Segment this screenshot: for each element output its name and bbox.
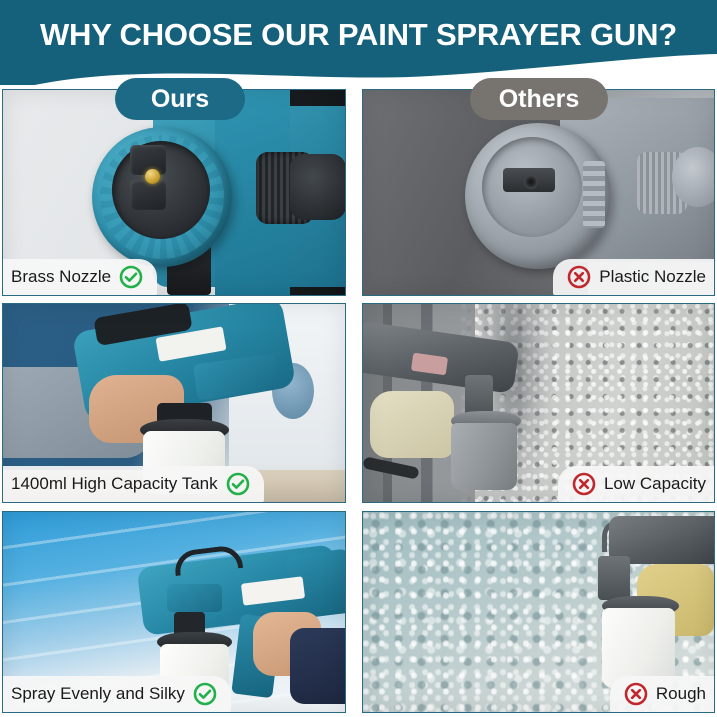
check-circle-icon <box>119 265 143 289</box>
comparison-row: Spray Evenly and Silky <box>0 511 717 717</box>
check-circle-icon <box>193 682 217 706</box>
x-circle-icon <box>567 265 591 289</box>
caption-text: Low Capacity <box>604 474 706 494</box>
caption-others: Low Capacity <box>558 466 715 502</box>
caption-ours: Spray Evenly and Silky <box>2 676 231 712</box>
x-circle-icon <box>572 472 596 496</box>
caption-text: Plastic Nozzle <box>599 267 706 287</box>
panel-ours-nozzle: Brass Nozzle <box>2 89 346 296</box>
caption-others: Plastic Nozzle <box>553 259 715 295</box>
panel-ours-finish: Spray Evenly and Silky <box>2 511 346 713</box>
panel-others-capacity: Low Capacity <box>362 303 715 503</box>
caption-text: Brass Nozzle <box>11 267 111 287</box>
panel-ours-tank: 1400ml High Capacity Tank <box>2 303 346 503</box>
panel-others-finish: Rough <box>362 511 715 713</box>
caption-text: Rough <box>656 684 706 704</box>
comparison-grid: Brass Nozzle <box>0 85 717 717</box>
badge-ours: Ours <box>115 78 245 120</box>
badge-others: Others <box>470 78 608 120</box>
caption-others: Rough <box>610 676 715 712</box>
caption-text: Spray Evenly and Silky <box>11 684 185 704</box>
comparison-row: 1400ml High Capacity Tank <box>0 303 717 508</box>
caption-text: 1400ml High Capacity Tank <box>11 474 218 494</box>
caption-ours: Brass Nozzle <box>2 259 157 295</box>
check-circle-icon <box>226 472 250 496</box>
comparison-row: Brass Nozzle <box>0 85 717 300</box>
caption-ours: 1400ml High Capacity Tank <box>2 466 264 502</box>
x-circle-icon <box>624 682 648 706</box>
panel-others-nozzle: Plastic Nozzle <box>362 89 715 296</box>
page-title: WHY CHOOSE OUR PAINT SPRAYER GUN? <box>0 17 717 53</box>
